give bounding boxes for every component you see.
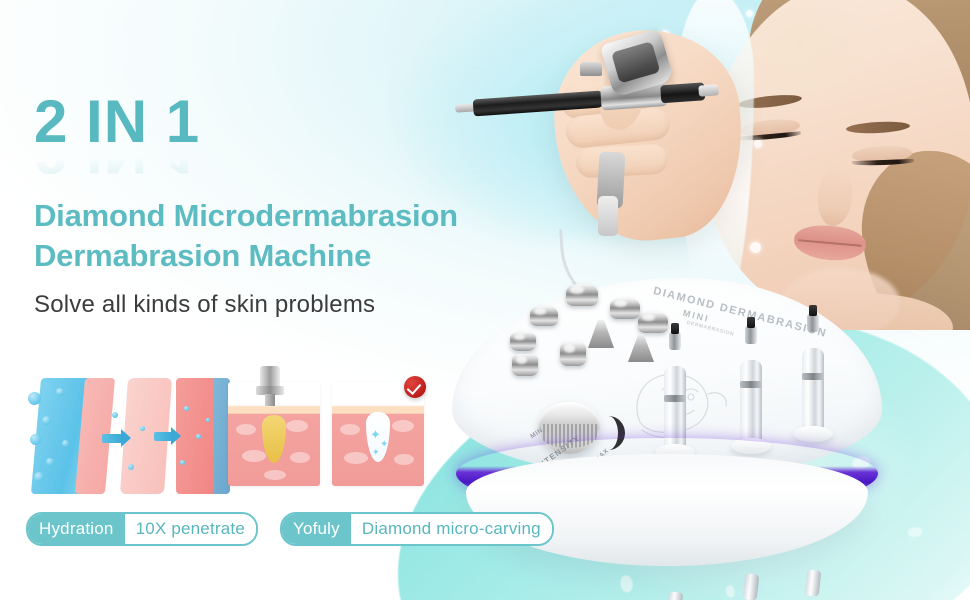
badge-hydration: Hydration 10X penetrate xyxy=(26,512,258,546)
handpiece-wand[interactable] xyxy=(664,300,686,460)
handpiece-wand[interactable] xyxy=(740,282,762,454)
diamond-tip-cone xyxy=(628,334,654,362)
handpiece-wand[interactable] xyxy=(802,278,824,442)
diamond-tip xyxy=(610,298,640,319)
headline-product-line1: Diamond Microdermabrasion xyxy=(34,196,594,236)
badge-microcarving-label: Yofuly xyxy=(282,514,351,544)
badge-hydration-value: 10X penetrate xyxy=(125,514,256,544)
pore-after-panel: ✦ ✦ ✦ xyxy=(332,382,424,486)
subheadline: Solve all kinds of skin problems xyxy=(34,291,594,319)
headline-2in1-reflection: 2 IN 1 xyxy=(34,152,594,182)
product-banner: DIAMOND DERMABRASION MINI DERMABRASION xyxy=(0,0,970,600)
check-icon xyxy=(404,376,426,398)
device-base xyxy=(466,454,868,566)
diamond-tip xyxy=(560,342,586,366)
airbrush-connector xyxy=(698,84,719,96)
headline-2in1: 2 IN 1 xyxy=(34,92,594,152)
feature-badges: Hydration 10X penetrate Yofuly Diamond m… xyxy=(26,512,554,546)
diamond-tip xyxy=(512,354,538,376)
badge-hydration-label: Hydration xyxy=(28,514,125,544)
hydration-illustration xyxy=(28,372,224,500)
diamond-tip xyxy=(510,332,536,351)
flow-arrow xyxy=(154,432,172,441)
headline-block: 2 IN 1 2 IN 1 Diamond Microdermabrasion … xyxy=(34,92,594,319)
diamond-tip-tool-icon xyxy=(256,366,284,406)
microcarving-illustration: ✦ ✦ ✦ xyxy=(228,372,428,500)
flow-arrow xyxy=(102,434,122,443)
headline-product-line2: Dermabrasion Machine xyxy=(34,236,594,276)
airbrush-trigger xyxy=(580,62,602,76)
diamond-tip-cone xyxy=(588,320,614,348)
badge-microcarving: Yofuly Diamond micro-carving xyxy=(280,512,554,546)
badge-microcarving-value: Diamond micro-carving xyxy=(351,514,552,544)
